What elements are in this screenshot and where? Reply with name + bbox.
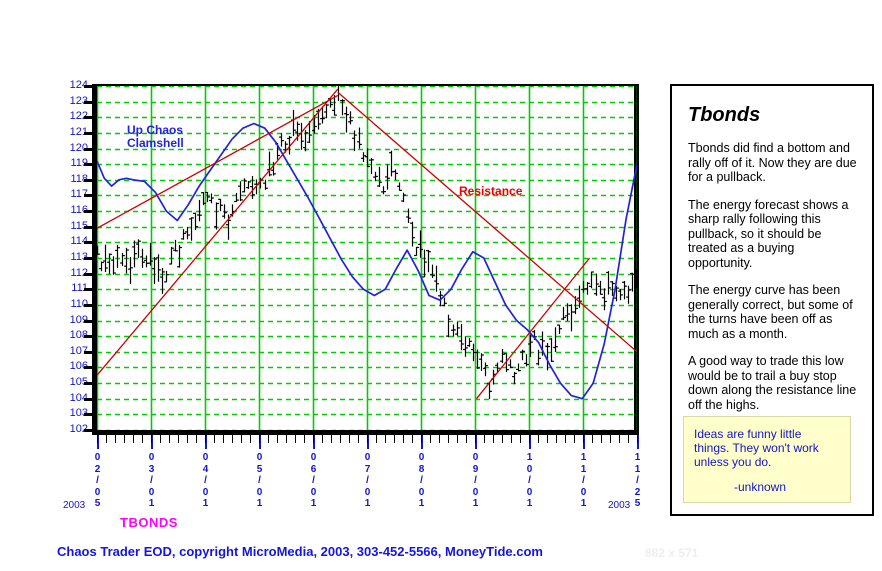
x-axis-minor-tick	[511, 435, 512, 443]
commentary-paragraph: A good way to trade this low would be to…	[688, 354, 860, 412]
x-axis-tick-label: 05/01	[253, 452, 267, 510]
commentary-paragraph: The energy curve has been generally corr…	[688, 283, 860, 341]
y-axis-tick-mark	[84, 366, 97, 369]
x-axis-minor-tick	[331, 435, 332, 443]
y-axis-tick-mark	[84, 194, 97, 197]
y-axis-tick-mark	[84, 273, 97, 276]
x-axis-tick-label: 08/01	[415, 452, 429, 510]
x-axis-minor-tick	[106, 435, 107, 443]
x-axis-minor-tick	[385, 435, 386, 443]
y-axis-tick-mark	[84, 288, 97, 291]
x-axis-minor-tick	[178, 435, 179, 443]
x-axis-minor-tick	[502, 435, 503, 443]
x-axis-minor-tick	[628, 435, 629, 443]
y-axis-tick-mark	[84, 132, 97, 135]
y-axis-tick-mark	[84, 398, 97, 401]
y-axis-tick-mark	[84, 320, 97, 323]
x-axis-minor-tick	[277, 435, 278, 443]
y-axis-tick-mark	[84, 210, 97, 213]
chart-panel: 1241231221211201191181171161151141131121…	[0, 0, 660, 571]
annotation-line-2: Clamshell	[127, 137, 184, 150]
x-axis-minor-tick	[592, 435, 593, 443]
y-axis-tick-mark	[84, 413, 97, 416]
y-axis-tick-mark	[84, 351, 97, 354]
x-axis-minor-tick	[340, 435, 341, 443]
x-axis-minor-tick	[124, 435, 125, 443]
x-axis-minor-tick	[556, 435, 557, 443]
x-axis-minor-tick	[367, 435, 368, 443]
x-axis-minor-tick	[520, 435, 521, 443]
y-axis-tick-mark	[84, 304, 97, 307]
annotation-up-chaos-clamshell: Up Chaos Clamshell	[127, 124, 184, 150]
x-axis-minor-tick	[610, 435, 611, 443]
x-axis-minor-tick	[250, 435, 251, 443]
x-axis-minor-tick	[484, 435, 485, 443]
x-axis-tick-label: 04/01	[199, 452, 213, 510]
x-axis-minor-tick	[313, 435, 314, 443]
x-axis-minor-tick	[142, 435, 143, 443]
x-axis-minor-tick	[160, 435, 161, 443]
x-axis-minor-tick	[223, 435, 224, 443]
x-axis-tick-label: 11/01	[577, 452, 591, 510]
y-axis-tick-mark	[84, 335, 97, 338]
x-axis-minor-tick	[232, 435, 233, 443]
x-axis-minor-tick	[259, 435, 260, 443]
quote-text: Ideas are funny little things. They won'…	[694, 427, 840, 469]
chart-symbol-label: TBONDS	[120, 515, 178, 530]
x-axis-minor-tick	[475, 435, 476, 443]
x-axis-minor-tick	[97, 435, 98, 443]
x-axis-minor-tick	[268, 435, 269, 443]
y-axis-tick-mark	[84, 257, 97, 260]
x-axis-tick-label: 02/05	[91, 452, 105, 510]
y-axis-tick-mark	[84, 101, 97, 104]
x-axis-minor-tick	[619, 435, 620, 443]
x-axis-minor-tick	[430, 435, 431, 443]
plot-bottom-axis	[92, 430, 639, 435]
x-axis-minor-tick	[205, 435, 206, 443]
x-axis-tick-label: 03/01	[145, 452, 159, 510]
x-axis-tick-label: 09/01	[469, 452, 483, 510]
x-axis-minor-tick	[601, 435, 602, 443]
x-axis-minor-tick	[637, 435, 638, 443]
x-axis-minor-tick	[421, 435, 422, 443]
x-axis-minor-tick	[322, 435, 323, 443]
x-axis-minor-tick	[115, 435, 116, 443]
x-axis-minor-tick	[241, 435, 242, 443]
footer-copyright: Chaos Trader EOD, copyright MicroMedia, …	[57, 544, 543, 559]
x-axis-minor-tick	[133, 435, 134, 443]
commentary-panel: Tbonds Tbonds did find a bottom and rall…	[670, 84, 874, 516]
x-axis-minor-tick	[304, 435, 305, 443]
y-axis-tick-mark	[84, 241, 97, 244]
year-label-left: 2003	[63, 500, 85, 511]
y-axis-tick-mark	[84, 163, 97, 166]
x-axis-minor-tick	[448, 435, 449, 443]
commentary-paragraph: The energy forecast shows a sharp rally …	[688, 198, 860, 271]
y-axis-tick-mark	[84, 382, 97, 385]
annotation-resistance: Resistance	[459, 184, 522, 198]
quote-box: Ideas are funny little things. They won'…	[683, 416, 851, 503]
x-axis-minor-tick	[376, 435, 377, 443]
y-axis-tick-mark	[84, 116, 97, 119]
x-axis-minor-tick	[187, 435, 188, 443]
x-axis-minor-tick	[394, 435, 395, 443]
x-axis-tick-label: 07/01	[361, 452, 375, 510]
x-axis-minor-tick	[457, 435, 458, 443]
x-axis-tick-label: 06/01	[307, 452, 321, 510]
x-axis-minor-tick	[358, 435, 359, 443]
x-axis-minor-tick	[565, 435, 566, 443]
x-axis-tick-label: 10/01	[523, 452, 537, 510]
commentary-paragraph: Tbonds did find a bottom and rally off o…	[688, 141, 860, 185]
x-axis-minor-tick	[538, 435, 539, 443]
x-axis-minor-tick	[403, 435, 404, 443]
y-axis-tick-mark	[84, 179, 97, 182]
x-axis-minor-tick	[151, 435, 152, 443]
x-axis-minor-tick	[286, 435, 287, 443]
x-axis-minor-tick	[349, 435, 350, 443]
y-axis-tick-mark	[84, 85, 97, 88]
x-axis-minor-tick	[169, 435, 170, 443]
x-axis-minor-tick	[196, 435, 197, 443]
x-axis-minor-tick	[583, 435, 584, 443]
y-axis-tick-mark	[84, 148, 97, 151]
x-axis-minor-tick	[439, 435, 440, 443]
year-label-right: 2003	[608, 500, 630, 511]
x-axis-minor-tick	[466, 435, 467, 443]
x-axis-tick-label: 11/25	[631, 452, 645, 510]
x-axis-minor-tick	[547, 435, 548, 443]
x-axis-minor-tick	[493, 435, 494, 443]
x-axis-minor-tick	[412, 435, 413, 443]
commentary-heading: Tbonds	[688, 104, 872, 127]
x-axis-minor-tick	[529, 435, 530, 443]
x-axis-minor-tick	[574, 435, 575, 443]
y-axis-tick-mark	[84, 429, 97, 432]
y-axis-tick-mark	[84, 226, 97, 229]
plot-area: Up Chaos Clamshell Resistance	[97, 86, 637, 430]
quote-attribution: -unknown	[694, 480, 840, 494]
x-axis-minor-tick	[295, 435, 296, 443]
x-axis-minor-tick	[214, 435, 215, 443]
dimensions-watermark: 882 x 571	[645, 546, 698, 560]
